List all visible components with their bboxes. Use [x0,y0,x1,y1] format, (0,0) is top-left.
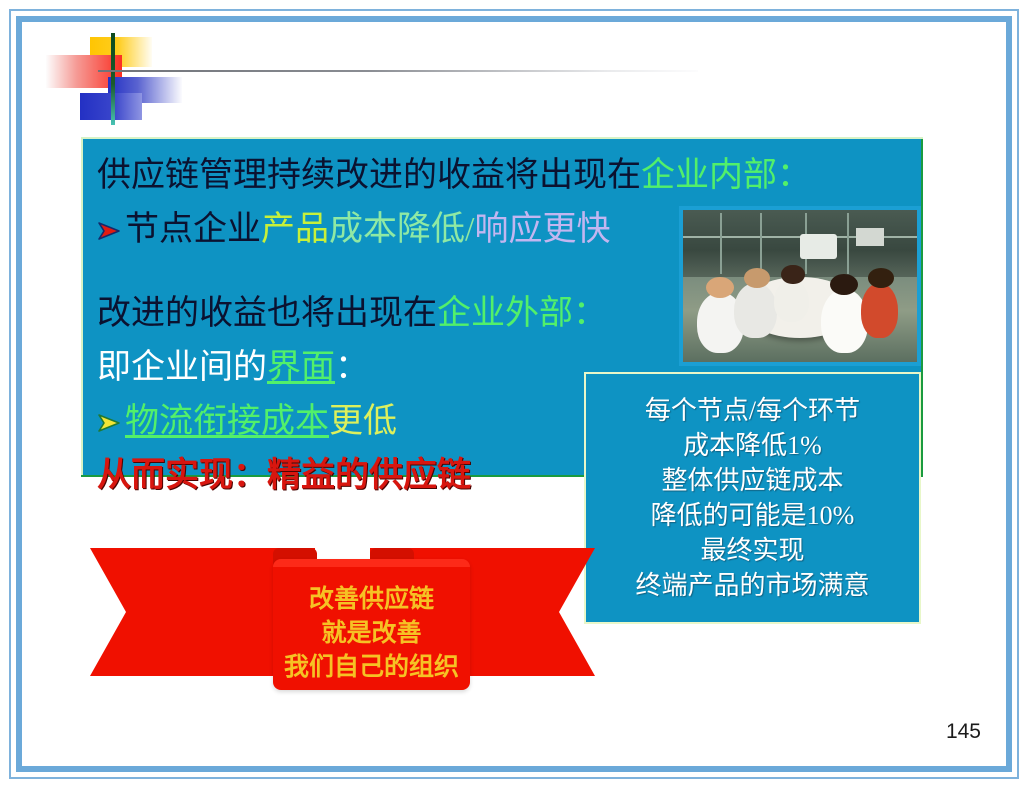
line1-segment-a: 供应链管理持续改进的收益将出现在 [97,157,641,194]
line2-segment-b: 产品 [261,211,329,248]
ribbon-center-panel: 改善供应链 就是改善 我们自己的组织 [273,559,470,690]
statement-line-2: 节点企业产品成本降低/响应更快 [97,203,717,257]
logo-vertical-line [111,33,115,125]
header-rule [98,70,698,72]
line3-segment-a: 改进的收益也将出现在 [97,295,437,332]
arrow-bullet-yellow-icon [97,397,123,419]
photo-person-3-head [781,265,804,285]
photo-person-2-body [734,283,776,338]
photo-equipment-2 [856,228,884,246]
line2-segment-c: 成本降低 [329,211,465,248]
ribbon-line: 就是改善 [273,617,470,651]
panel-edge-right [921,139,923,475]
paragraph-spacer [97,257,717,287]
photo-person-2-head [744,268,770,288]
panel-edge-left [81,139,83,475]
statement-line-3: 改进的收益也将出现在企业外部： [97,287,717,341]
photo-post-1 [720,213,722,274]
photo-post-4 [847,213,849,274]
ribbon-line: 改善供应链 [273,583,470,617]
statement-line-1: 供应链管理持续改进的收益将出现在企业内部： [97,149,717,203]
photo-person-5-head [868,268,894,288]
photo-person-3-body [774,280,809,323]
powerpoint-template-logo [40,33,160,113]
line4-segment-a: 即企业间的 [97,349,267,386]
photo-person-5-body [861,283,898,338]
callout-line: 成本降低1% [683,428,822,463]
panel-edge-top [81,137,923,139]
line4-segment-c: ： [335,349,369,386]
line2-segment-a: 节点企业 [125,211,261,248]
arrow-bullet-red-icon [97,205,123,227]
line5-segment-a: 物流衔接成本 [125,403,329,440]
line4-segment-b: 界面 [267,349,335,386]
red-ribbon-banner: 改善供应链 就是改善 我们自己的组织 [90,540,595,690]
line3-segment-b: 企业外部： [437,295,607,332]
page-number: 145 [946,720,981,744]
line6-text: 从而实现：精益的供应链 [97,457,471,494]
line2-segment-e: 响应更快 [474,211,610,248]
callout-line: 终端产品的市场满意 [635,568,869,603]
meeting-photo [679,206,921,366]
photo-post-2 [760,213,762,274]
cost-reduction-callout: 每个节点/每个环节 成本降低1% 整体供应链成本 降低的可能是10% 最终实现 … [584,372,921,624]
callout-line: 整体供应链成本 [661,463,843,498]
callout-line: 降低的可能是10% [651,498,855,533]
callout-line: 每个节点/每个环节 [645,393,860,428]
photo-equipment-1 [800,234,837,258]
ribbon-center-highlight [273,559,470,567]
line5-segment-b: 更低 [329,403,397,440]
ribbon-text-block: 改善供应链 就是改善 我们自己的组织 [273,583,470,685]
ribbon-line: 我们自己的组织 [273,651,470,685]
callout-line: 最终实现 [700,533,804,568]
line1-segment-b: 企业内部： [641,157,811,194]
slide-canvas: 供应链管理持续改进的收益将出现在企业内部： 节点企业产品成本降低/响应更快 改进… [0,0,1030,790]
